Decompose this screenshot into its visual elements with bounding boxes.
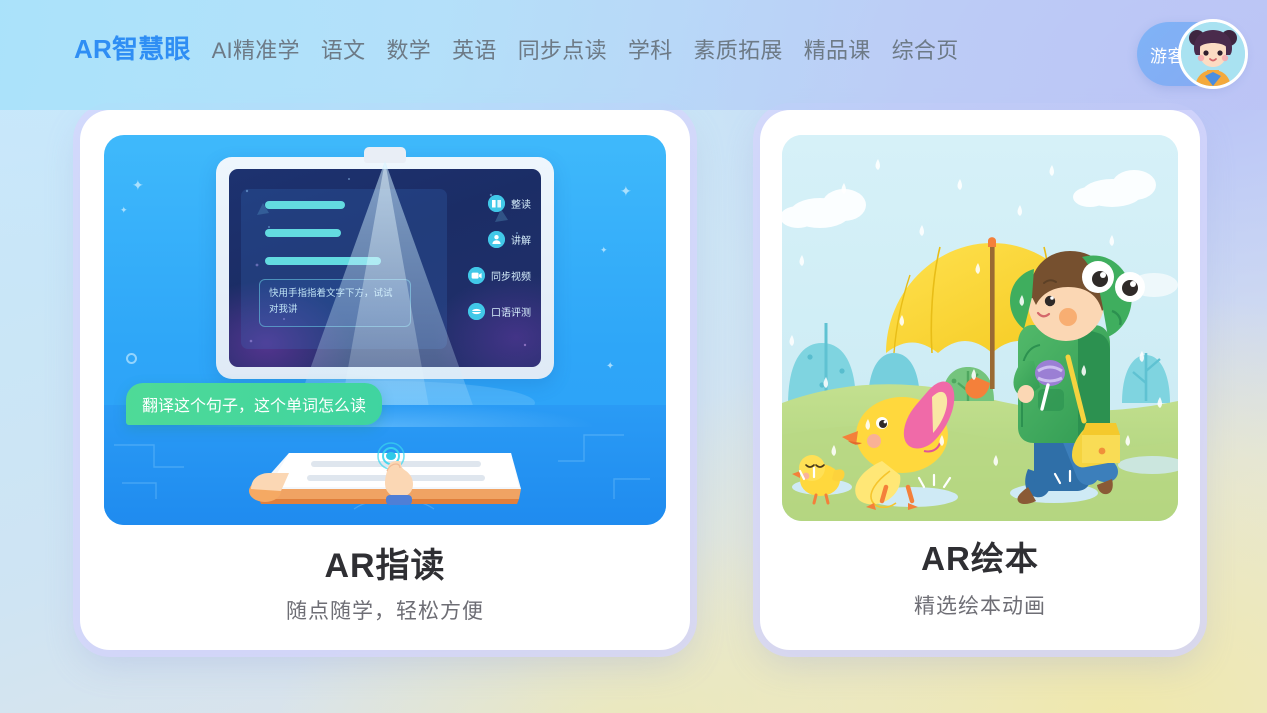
video-camera-icon — [468, 267, 485, 284]
screen-text-line — [265, 229, 341, 237]
sparkle-icon: ✦ — [600, 245, 608, 256]
rainy-day-scene — [782, 135, 1178, 521]
top-navigation-bar: AR智慧眼 AI精准学 语文 数学 英语 同步点读 学科 素质拓展 精品课 综合… — [0, 0, 1267, 110]
open-book-icon — [488, 195, 505, 212]
tablet-screen: 快用手指指着文字下方，试试对我讲 整读 讲解 — [229, 169, 541, 367]
feature-item-oral-assessment: 口语评测 — [468, 303, 531, 320]
feature-label: 讲解 — [511, 232, 531, 247]
speech-bubble: 翻译这个句子，这个单词怎么读 — [126, 383, 382, 425]
nav-item-chinese[interactable]: 语文 — [321, 40, 366, 62]
open-book-illustration — [239, 431, 529, 517]
avatar[interactable] — [1178, 19, 1248, 89]
feature-item-sync-video: 同步视频 — [468, 267, 531, 284]
feature-label: 同步视频 — [491, 268, 531, 283]
card-subtitle-ar-picture-book: 精选绘本动画 — [760, 590, 1200, 620]
ar-point-read-illustration: ✦ ✦ ✦ ✦ ✦ — [104, 135, 666, 525]
nav-item-math[interactable]: 数学 — [386, 40, 431, 62]
nav-menu: AR智慧眼 AI精准学 语文 数学 英语 同步点读 学科 素质拓展 精品课 综合… — [74, 36, 959, 62]
tablet-camera-icon — [364, 147, 406, 163]
tablet-device: 快用手指指着文字下方，试试对我讲 整读 讲解 — [216, 157, 554, 379]
card-ar-picture-book[interactable]: AR绘本 精选绘本动画 — [760, 110, 1200, 650]
card-ar-point-read[interactable]: ✦ ✦ ✦ ✦ ✦ — [80, 110, 690, 650]
nav-item-overview[interactable]: 综合页 — [892, 40, 959, 62]
teacher-icon — [488, 231, 505, 248]
screen-text-line — [265, 201, 345, 209]
nav-item-quality-expansion[interactable]: 素质拓展 — [694, 40, 783, 62]
tablet-hint-text: 快用手指指着文字下方，试试对我讲 — [259, 279, 411, 327]
nav-item-english[interactable]: 英语 — [452, 40, 497, 62]
app-brand-logo[interactable]: AR智慧眼 — [74, 36, 191, 62]
nav-item-sync-reading[interactable]: 同步点读 — [518, 40, 607, 62]
sparkle-icon: ✦ — [606, 361, 614, 372]
card-subtitle-ar-point-read: 随点随学，轻松方便 — [80, 595, 690, 625]
nav-item-ai-precision[interactable]: AI精准学 — [212, 40, 300, 62]
sparkle-icon: ✦ — [620, 183, 632, 200]
card-title-ar-picture-book: AR绘本 — [760, 532, 1200, 580]
feature-label: 整读 — [511, 196, 531, 211]
feature-label: 口语评测 — [491, 304, 531, 319]
girl-avatar-icon — [1181, 22, 1245, 86]
nav-item-subjects[interactable]: 学科 — [628, 40, 673, 62]
user-profile-button[interactable]: 游客 — [1137, 22, 1245, 86]
nav-item-premium-course[interactable]: 精品课 — [804, 40, 871, 62]
feature-item-explanation: 讲解 — [488, 231, 531, 248]
sparkle-icon: ✦ — [132, 177, 144, 194]
content-cards-area: ✦ ✦ ✦ ✦ ✦ — [0, 110, 1267, 713]
speech-assess-icon — [468, 303, 485, 320]
sparkle-icon: ✦ — [120, 205, 128, 216]
screen-text-line — [265, 257, 381, 265]
card-title-ar-point-read: AR指读 — [80, 538, 690, 587]
ring-decoration-icon — [126, 353, 137, 364]
feature-item-whole-reading: 整读 — [488, 195, 531, 212]
ar-picture-book-illustration — [782, 135, 1178, 521]
